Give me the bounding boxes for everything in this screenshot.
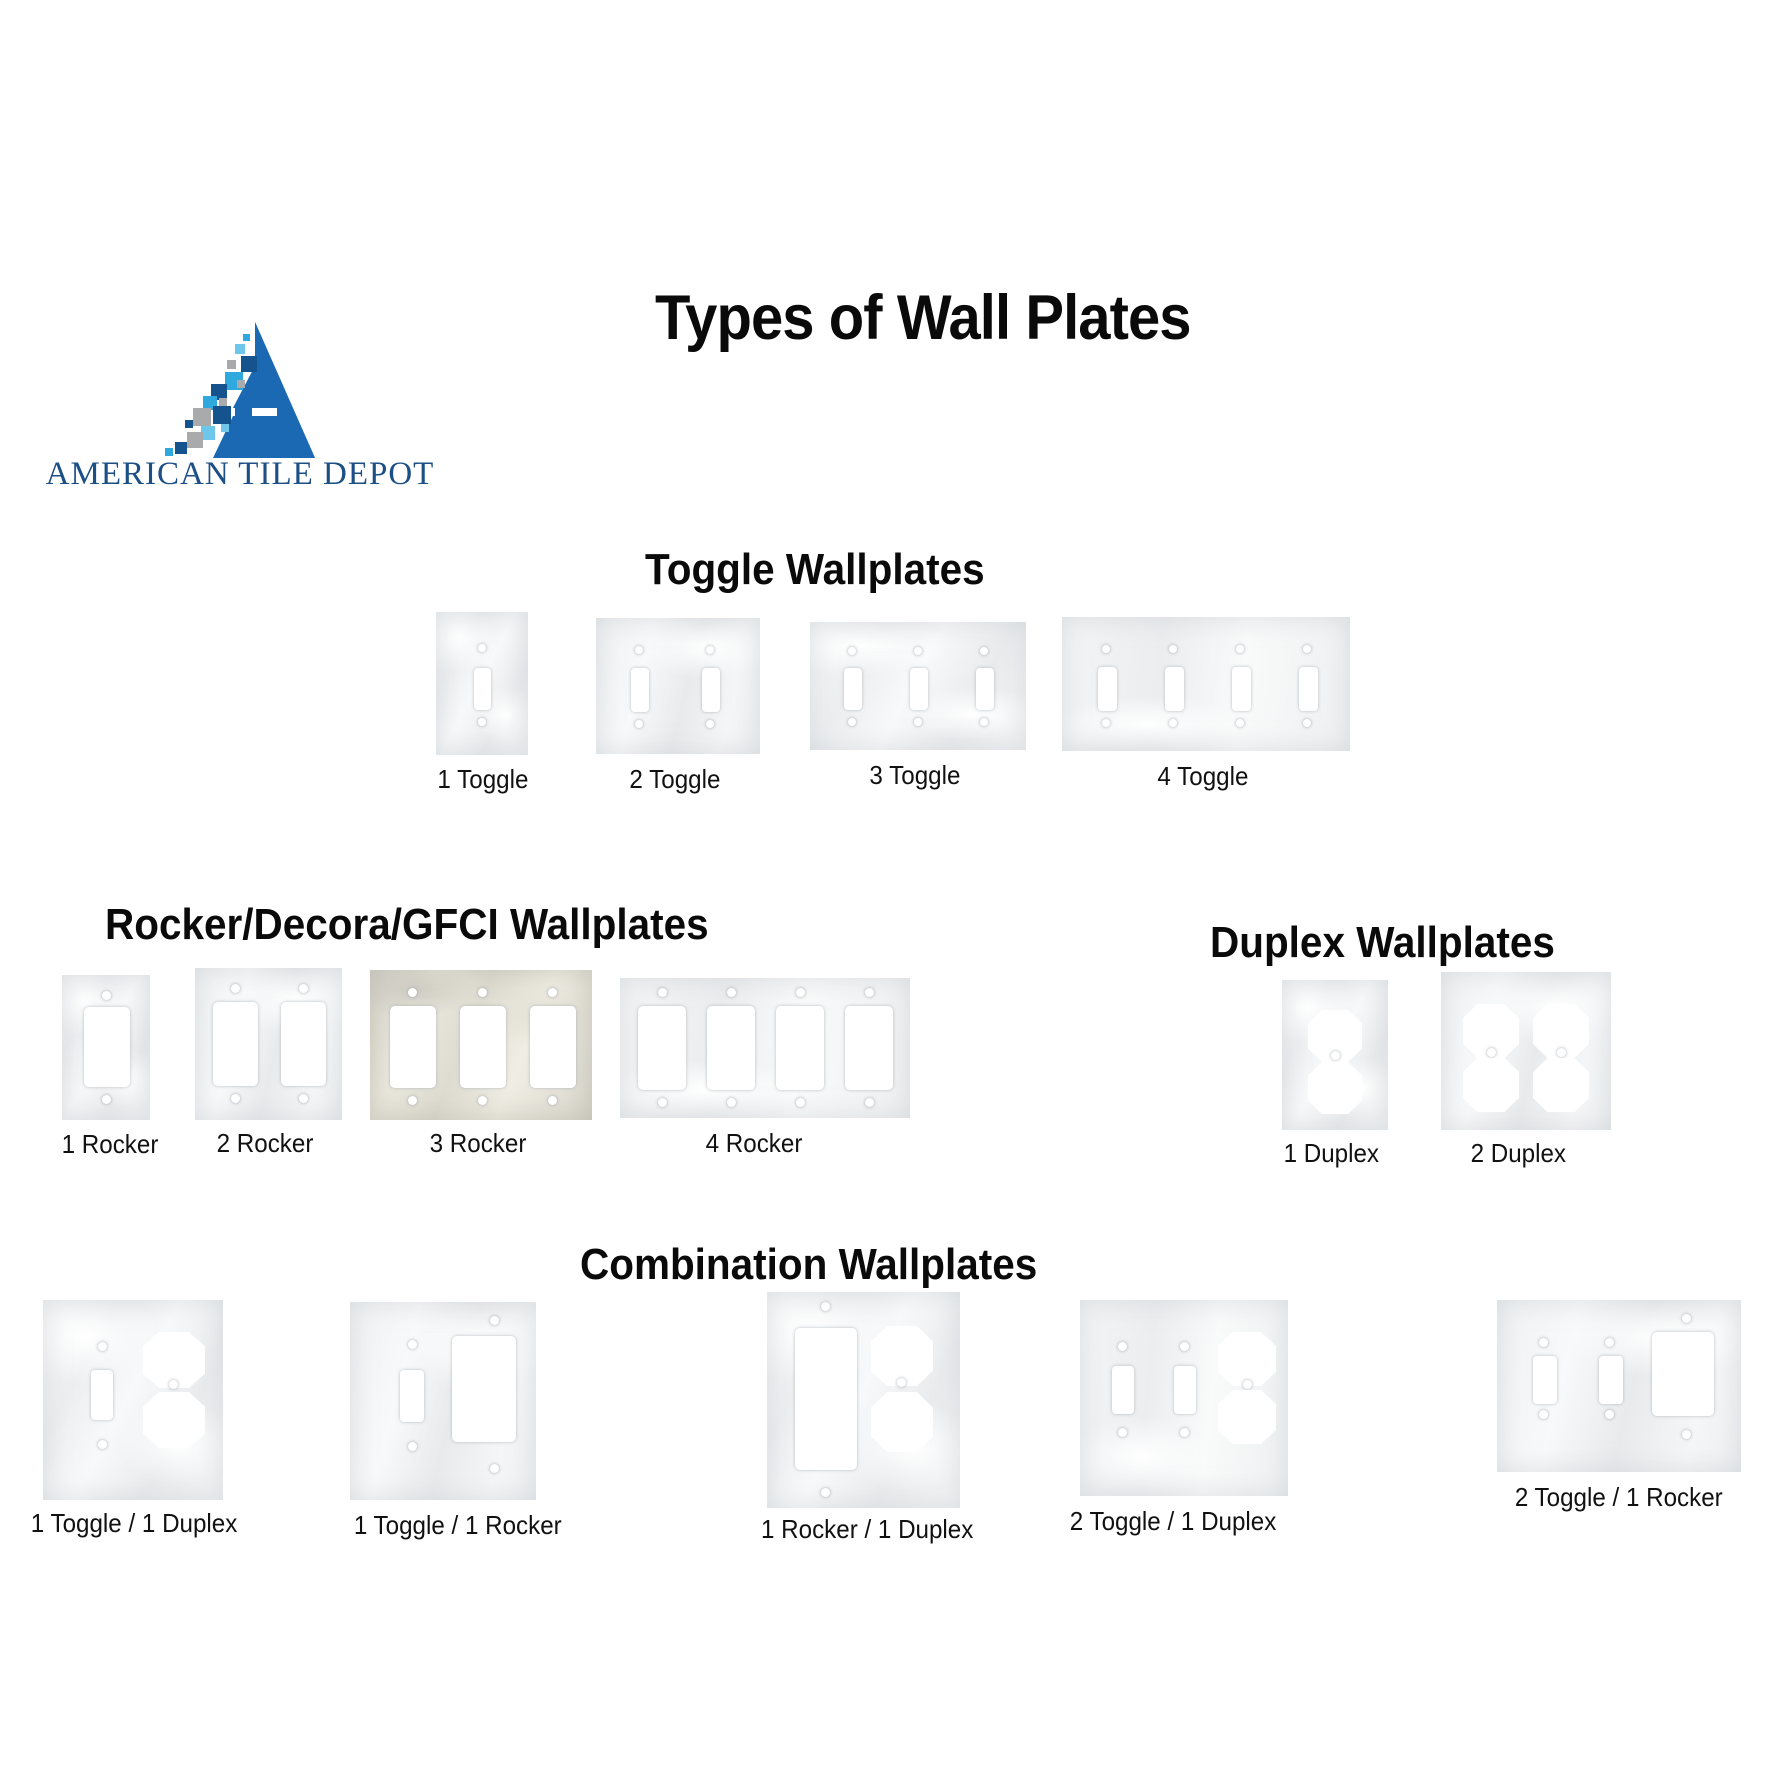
plate-face <box>620 978 910 1118</box>
screw-hole <box>1102 719 1110 727</box>
wallplate-1-rocker: 1 Rocker <box>62 975 150 1120</box>
screw-hole <box>1303 645 1311 653</box>
plate-face <box>1282 980 1388 1130</box>
screw-hole <box>1243 1380 1252 1389</box>
plate-face <box>350 1302 536 1500</box>
toggle-cutout <box>1098 667 1117 711</box>
screw-hole <box>727 1098 736 1107</box>
screw-hole <box>1539 1338 1548 1347</box>
rocker-cutout <box>530 1006 576 1088</box>
item-caption: 1 Toggle <box>437 764 528 795</box>
screw-hole <box>897 1378 906 1387</box>
plate-face <box>1441 972 1611 1130</box>
screw-hole <box>821 1302 830 1311</box>
screw-hole <box>478 1096 487 1105</box>
screw-hole <box>1118 1428 1127 1437</box>
rocker-cutout <box>84 1007 130 1087</box>
wallplate-4-toggle: 4 Toggle <box>1062 617 1350 751</box>
screw-hole <box>408 988 417 997</box>
screw-hole <box>478 718 486 726</box>
screw-hole <box>1236 645 1244 653</box>
screw-hole <box>1169 645 1177 653</box>
duplex-cutout <box>143 1392 205 1448</box>
item-caption: 4 Rocker <box>706 1128 803 1159</box>
duplex-cutout <box>871 1326 933 1386</box>
rocker-cutout <box>707 1006 755 1090</box>
screw-hole <box>299 984 308 993</box>
screw-hole <box>1682 1430 1691 1439</box>
rocker-cutout <box>795 1328 857 1470</box>
page-title: Types of Wall Plates <box>655 282 1191 354</box>
screw-hole <box>796 988 805 997</box>
screw-hole <box>98 1342 107 1351</box>
rocker-cutout <box>213 1002 258 1086</box>
screw-hole <box>1487 1048 1496 1057</box>
item-caption: 2 Toggle / 1 Duplex <box>1070 1506 1277 1537</box>
screw-hole <box>478 644 486 652</box>
brand-wordmark: AMERICAN TILE DEPOT <box>30 456 450 493</box>
screw-hole <box>408 1442 417 1451</box>
screw-hole <box>1605 1338 1614 1347</box>
toggle-cutout <box>474 668 491 710</box>
screw-hole <box>548 1096 557 1105</box>
section-heading-duplex: Duplex Wallplates <box>1210 918 1555 968</box>
item-caption: 2 Duplex <box>1471 1138 1566 1169</box>
toggle-cutout <box>844 668 862 710</box>
screw-hole <box>231 1094 240 1103</box>
screw-hole <box>1180 1342 1189 1351</box>
item-caption: 2 Rocker <box>217 1128 314 1159</box>
screw-hole <box>1303 719 1311 727</box>
rocker-cutout <box>390 1006 436 1088</box>
screw-hole <box>821 1488 830 1497</box>
rocker-cutout <box>460 1006 506 1088</box>
plate-face <box>810 622 1026 750</box>
screw-hole <box>1236 719 1244 727</box>
toggle-cutout <box>91 1370 113 1420</box>
item-caption: 2 Toggle <box>629 764 720 795</box>
item-caption: 1 Duplex <box>1284 1138 1379 1169</box>
duplex-cutout <box>1308 1062 1362 1114</box>
section-heading-rocker: Rocker/Decora/GFCI Wallplates <box>105 900 709 950</box>
rocker-cutout <box>638 1006 686 1090</box>
screw-hole <box>1539 1410 1548 1419</box>
screw-hole <box>706 646 714 654</box>
wallplate-1-rocker-1-duplex: 1 Rocker / 1 Duplex <box>767 1292 960 1508</box>
screw-hole <box>1605 1410 1614 1419</box>
section-heading-combination: Combination Wallplates <box>580 1240 1037 1290</box>
screw-hole <box>548 988 557 997</box>
item-caption: 1 Toggle / 1 Rocker <box>354 1510 562 1541</box>
wallplate-1-duplex: 1 Duplex <box>1282 980 1388 1130</box>
plate-face <box>370 970 592 1120</box>
toggle-cutout <box>910 668 928 710</box>
wallplate-2-toggle-1-duplex: 2 Toggle / 1 Duplex <box>1080 1300 1288 1496</box>
screw-hole <box>848 718 856 726</box>
toggle-cutout <box>1599 1356 1623 1404</box>
rocker-cutout <box>1652 1332 1714 1416</box>
wallplate-4-rocker: 4 Rocker <box>620 978 910 1118</box>
screw-hole <box>1102 645 1110 653</box>
item-caption: 1 Rocker <box>62 1129 159 1160</box>
item-caption: 4 Toggle <box>1157 761 1248 792</box>
screw-hole <box>490 1464 499 1473</box>
toggle-cutout <box>1533 1356 1557 1404</box>
screw-hole <box>98 1440 107 1449</box>
toggle-cutout <box>1165 667 1184 711</box>
screw-hole <box>635 720 643 728</box>
screw-hole <box>408 1096 417 1105</box>
screw-hole <box>1169 719 1177 727</box>
screw-hole <box>1557 1048 1566 1057</box>
brand-logo: AMERICAN TILE DEPOT <box>30 320 450 510</box>
wallplate-2-toggle-1-rocker: 2 Toggle / 1 Rocker <box>1497 1300 1741 1472</box>
screw-hole <box>848 647 856 655</box>
item-caption: 2 Toggle / 1 Rocker <box>1515 1482 1723 1513</box>
screw-hole <box>658 988 667 997</box>
screw-hole <box>658 1098 667 1107</box>
screw-hole <box>408 1340 417 1349</box>
screw-hole <box>102 991 111 1000</box>
screw-hole <box>865 988 874 997</box>
duplex-cutout <box>1533 1058 1589 1112</box>
item-caption: 1 Rocker / 1 Duplex <box>761 1514 973 1545</box>
plate-face <box>62 975 150 1120</box>
plate-face <box>436 612 528 755</box>
wallplate-2-toggle: 2 Toggle <box>596 618 760 754</box>
screw-hole <box>490 1316 499 1325</box>
plate-face <box>1497 1300 1741 1472</box>
rocker-cutout <box>281 1002 326 1086</box>
toggle-cutout <box>400 1370 424 1422</box>
wallplate-1-toggle-1-rocker: 1 Toggle / 1 Rocker <box>350 1302 536 1500</box>
rocker-cutout <box>452 1336 516 1442</box>
duplex-cutout <box>1463 1058 1519 1112</box>
toggle-cutout <box>1299 667 1318 711</box>
item-caption: 1 Toggle / 1 Duplex <box>31 1508 238 1539</box>
duplex-cutout <box>1218 1332 1276 1386</box>
rocker-cutout <box>845 1006 893 1090</box>
plate-face <box>1080 1300 1288 1496</box>
screw-hole <box>727 988 736 997</box>
section-heading-toggle: Toggle Wallplates <box>645 545 985 595</box>
screw-hole <box>299 1094 308 1103</box>
screw-hole <box>169 1380 178 1389</box>
screw-hole <box>865 1098 874 1107</box>
screw-hole <box>478 988 487 997</box>
screw-hole <box>102 1095 111 1104</box>
duplex-cutout <box>871 1392 933 1452</box>
plate-face <box>43 1300 223 1500</box>
toggle-cutout <box>702 668 720 712</box>
wallplate-1-toggle-1-duplex: 1 Toggle / 1 Duplex <box>43 1300 223 1500</box>
screw-hole <box>1331 1051 1340 1060</box>
wallplate-3-rocker: 3 Rocker <box>370 970 592 1120</box>
american-tile-depot-triangle-mosaic-logo <box>155 320 355 460</box>
screw-hole <box>914 647 922 655</box>
screw-hole <box>980 647 988 655</box>
wallplate-3-toggle: 3 Toggle <box>810 622 1026 750</box>
plate-face <box>767 1292 960 1508</box>
wallplate-2-duplex: 2 Duplex <box>1441 972 1611 1130</box>
toggle-cutout <box>1174 1366 1196 1414</box>
toggle-cutout <box>631 668 649 712</box>
toggle-cutout <box>1232 667 1251 711</box>
screw-hole <box>796 1098 805 1107</box>
screw-hole <box>706 720 714 728</box>
screw-hole <box>980 718 988 726</box>
plate-face <box>195 968 342 1120</box>
screw-hole <box>1118 1342 1127 1351</box>
duplex-cutout <box>1218 1390 1276 1444</box>
item-caption: 3 Rocker <box>430 1128 527 1159</box>
toggle-cutout <box>976 668 994 710</box>
screw-hole <box>635 646 643 654</box>
rocker-cutout <box>776 1006 824 1090</box>
screw-hole <box>914 718 922 726</box>
wallplate-2-rocker: 2 Rocker <box>195 968 342 1120</box>
item-caption: 3 Toggle <box>869 760 960 791</box>
plate-face <box>596 618 760 754</box>
screw-hole <box>1180 1428 1189 1437</box>
screw-hole <box>231 984 240 993</box>
toggle-cutout <box>1112 1366 1134 1414</box>
plate-face <box>1062 617 1350 751</box>
screw-hole <box>1682 1314 1691 1323</box>
wallplate-1-toggle: 1 Toggle <box>436 612 528 755</box>
